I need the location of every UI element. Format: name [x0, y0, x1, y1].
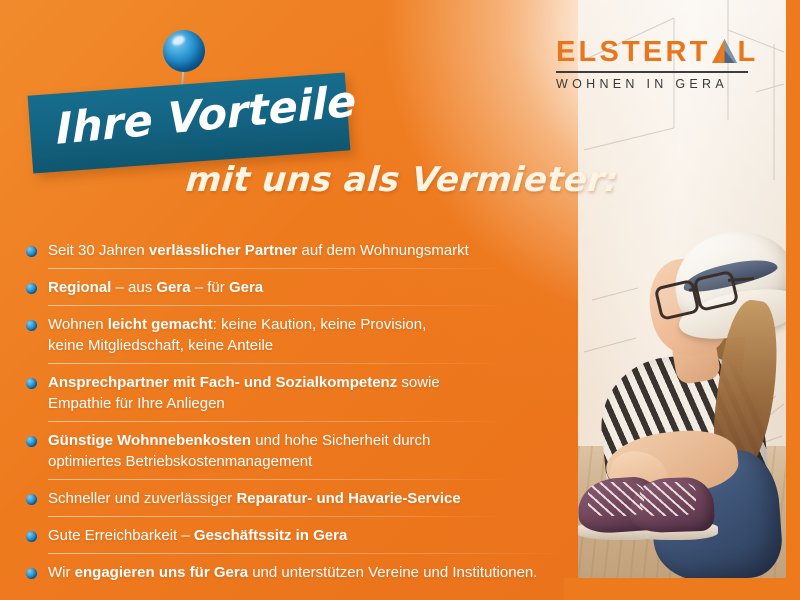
- benefit-separator: [48, 421, 508, 422]
- benefit-text-line: Günstige Wohnnebenkosten und hohe Sicher…: [48, 430, 570, 451]
- bullet-dot-icon: [26, 378, 37, 389]
- benefit-text-line: keine Mitgliedschaft, keine Anteile: [48, 335, 570, 356]
- benefit-list-item: Regional – aus Gera – für Gera: [22, 277, 570, 298]
- bullet-dot-icon: [26, 436, 37, 447]
- benefit-text-bold: Ansprechpartner mit Fach- und Sozialkomp…: [48, 374, 397, 391]
- headline-banner-text: Ihre Vorteile: [56, 76, 357, 154]
- benefit-text-bold: Geschäftssitz in Gera: [194, 527, 347, 544]
- benefit-list-item: Günstige Wohnnebenkosten und hohe Sicher…: [22, 430, 570, 472]
- logo-name-part2: L: [738, 36, 759, 68]
- bullet-dot-icon: [26, 568, 37, 579]
- benefit-text-line: Seit 30 Jahren verlässlicher Partner auf…: [48, 240, 570, 261]
- benefit-text-normal: keine Mitgliedschaft, keine Anteile: [48, 337, 273, 354]
- benefit-separator: [48, 305, 508, 306]
- benefit-text: Günstige Wohnnebenkosten und hohe Sicher…: [48, 430, 570, 472]
- bullet-dot-icon: [26, 494, 37, 505]
- benefit-list-item: Wohnen leicht gemacht: keine Kaution, ke…: [22, 314, 570, 356]
- benefit-text-normal: Wir: [48, 564, 75, 581]
- benefit-separator: [48, 479, 508, 480]
- benefit-separator: [48, 363, 508, 364]
- bullet-dot-icon: [26, 531, 37, 542]
- logo-divider-rule: [556, 71, 748, 73]
- benefits-list: Seit 30 Jahren verlässlicher Partner auf…: [22, 240, 570, 583]
- benefit-text-normal: und unterstützen Vereine und Institution…: [248, 564, 537, 581]
- benefit-text-line: Ansprechpartner mit Fach- und Sozialkomp…: [48, 372, 570, 393]
- benefit-text: Seit 30 Jahren verlässlicher Partner auf…: [48, 240, 570, 261]
- benefit-text-normal: und hohe Sicherheit durch: [251, 432, 430, 449]
- benefit-list-item: Ansprechpartner mit Fach- und Sozialkomp…: [22, 372, 570, 414]
- benefit-text-bold: Günstige Wohnnebenkosten: [48, 432, 251, 449]
- benefit-text-bold: Gera: [156, 279, 190, 296]
- bullet-dot-icon: [26, 320, 37, 331]
- benefit-text-line: Wohnen leicht gemacht: keine Kaution, ke…: [48, 314, 570, 335]
- benefit-text-line: Regional – aus Gera – für Gera: [48, 277, 570, 298]
- benefit-text-bold: Regional: [48, 279, 111, 296]
- photo-right-border: [786, 0, 800, 600]
- photo-bottom-border: [564, 578, 800, 600]
- benefit-text-normal: sowie: [397, 374, 440, 391]
- shoe-laces-left: [588, 482, 644, 516]
- benefit-text-normal: Schneller und zuverlässiger: [48, 490, 236, 507]
- benefit-text-normal: Gute Erreichbarkeit –: [48, 527, 194, 544]
- shoe-laces-right: [640, 482, 696, 516]
- benefit-text-line: Schneller und zuverlässiger Reparatur- u…: [48, 488, 570, 509]
- benefit-text-line: Empathie für Ihre Anliegen: [48, 393, 570, 414]
- benefit-text-line: Gute Erreichbarkeit – Geschäftssitz in G…: [48, 525, 570, 546]
- benefit-list-item: Gute Erreichbarkeit – Geschäftssitz in G…: [22, 525, 570, 546]
- mountain-triangle-icon: [711, 40, 738, 64]
- benefit-list-item: Wir engagieren uns für Gera und unterstü…: [22, 562, 570, 583]
- benefit-separator: [48, 516, 508, 517]
- logo-name-part1: ELSTERT: [556, 36, 711, 68]
- benefit-text-normal: – für: [191, 279, 229, 296]
- elstertal-logo[interactable]: ELSTERTL WOHNEN IN GERA: [556, 36, 752, 98]
- logo-tagline: WOHNEN IN GERA: [556, 77, 752, 91]
- benefit-text: Schneller und zuverlässiger Reparatur- u…: [48, 488, 570, 509]
- benefit-text-normal: : keine Kaution, keine Provision,: [213, 316, 426, 333]
- benefit-text-bold: Reparatur- und Havarie-Service: [236, 490, 460, 507]
- bullet-dot-icon: [26, 246, 37, 257]
- benefit-text-line: Wir engagieren uns für Gera und unterstü…: [48, 562, 570, 583]
- subheadline-text: mit uns als Vermieter:: [184, 160, 620, 200]
- benefit-text-bold: leicht gemacht: [108, 316, 213, 333]
- benefit-text-normal: Empathie für Ihre Anliegen: [48, 395, 225, 412]
- benefit-separator: [48, 268, 508, 269]
- benefit-text-bold: verlässlicher Partner: [149, 242, 297, 259]
- benefit-text-bold: Gera: [229, 279, 263, 296]
- bullet-dot-icon: [26, 283, 37, 294]
- advertisement-poster: ELSTERTL WOHNEN IN GERA Ihre Vorteile mi…: [0, 0, 800, 600]
- benefit-text: Wir engagieren uns für Gera und unterstü…: [48, 562, 570, 583]
- benefit-separator: [48, 553, 568, 554]
- benefit-text-normal: optimiertes Betriebskostenmanagement: [48, 453, 312, 470]
- benefit-text: Ansprechpartner mit Fach- und Sozialkomp…: [48, 372, 570, 414]
- benefit-text: Regional – aus Gera – für Gera: [48, 277, 570, 298]
- benefit-text: Gute Erreichbarkeit – Geschäftssitz in G…: [48, 525, 570, 546]
- logo-wordmark: ELSTERTL: [556, 36, 752, 68]
- benefit-text: Wohnen leicht gemacht: keine Kaution, ke…: [48, 314, 570, 356]
- benefit-list-item: Schneller und zuverlässiger Reparatur- u…: [22, 488, 570, 509]
- benefit-text-normal: – aus: [111, 279, 156, 296]
- benefit-text-normal: Wohnen: [48, 316, 108, 333]
- benefit-list-item: Seit 30 Jahren verlässlicher Partner auf…: [22, 240, 570, 261]
- headline-banner: Ihre Vorteile: [28, 72, 351, 173]
- benefit-text-line: optimiertes Betriebskostenmanagement: [48, 451, 570, 472]
- benefit-text-bold: engagieren uns für Gera: [75, 564, 248, 581]
- benefit-text-normal: auf dem Wohnungsmarkt: [297, 242, 468, 259]
- benefit-text-normal: Seit 30 Jahren: [48, 242, 149, 259]
